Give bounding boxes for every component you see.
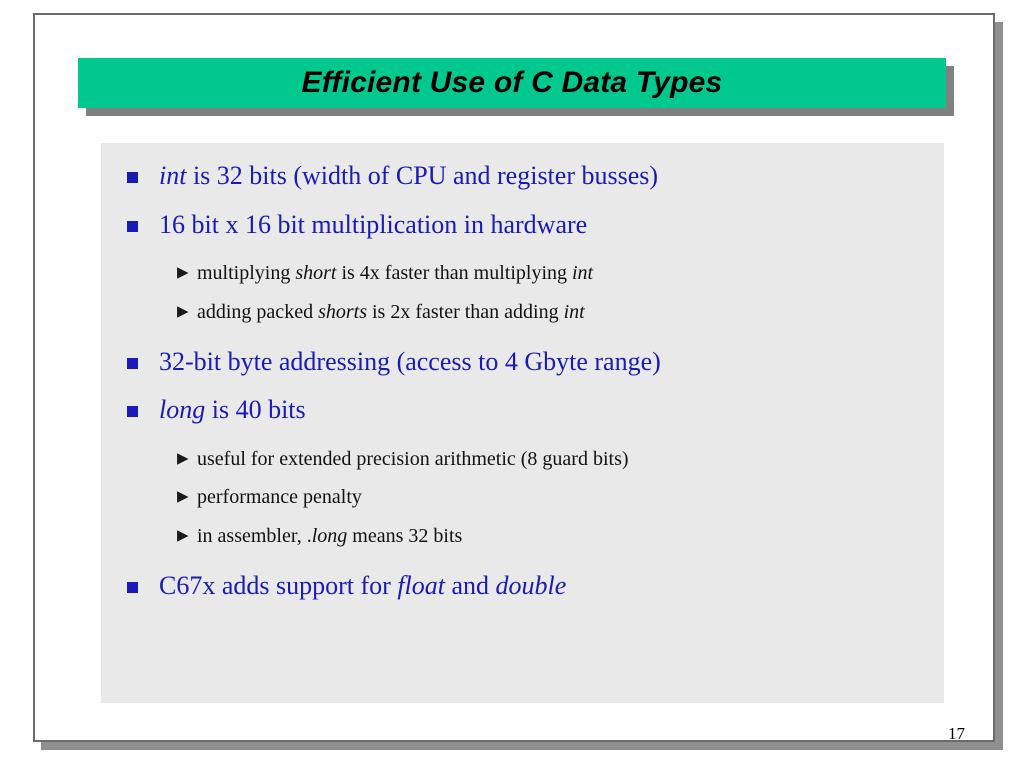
bullet-level2: useful for extended precision arithmetic… [111, 448, 934, 472]
page-number: 17 [948, 724, 965, 744]
bullet-level1: C67x adds support for float and double [111, 571, 934, 602]
bullet-text: performance penalty [197, 486, 362, 508]
bullet-text: adding packed [197, 301, 318, 323]
bullet-text: C67x adds support for [159, 571, 397, 600]
bullet-level1: long is 40 bits [111, 395, 934, 426]
emphasized-term: int [564, 301, 585, 323]
emphasized-term: shorts [318, 301, 367, 323]
bullet-text: is 32 bits (width of CPU and register bu… [186, 161, 658, 190]
bullet-text: is 40 bits [205, 395, 305, 424]
bullet-level1: 32-bit byte addressing (access to 4 Gbyt… [111, 347, 934, 378]
bullet-level2: multiplying short is 4x faster than mult… [111, 262, 934, 286]
emphasized-term: float [397, 571, 445, 600]
slide-canvas: Efficient Use of C Data Types int is 32 … [0, 0, 1024, 768]
emphasized-term: short [295, 262, 336, 284]
bullet-level1: int is 32 bits (width of CPU and registe… [111, 161, 934, 192]
bullet-text: 32-bit byte addressing (access to 4 Gbyt… [159, 347, 661, 376]
emphasized-term: int [159, 161, 186, 190]
bullet-level2: adding packed shorts is 2x faster than a… [111, 301, 934, 325]
bullet-text: is 4x faster than multiplying [336, 262, 572, 284]
title-banner: Efficient Use of C Data Types [78, 58, 946, 108]
bullet-level2: performance penalty [111, 486, 934, 510]
emphasized-term: long [159, 395, 205, 424]
content-panel: int is 32 bits (width of CPU and registe… [101, 143, 944, 703]
bullet-text: and [445, 571, 496, 600]
bullet-text: means 32 bits [347, 525, 462, 547]
slide-title: Efficient Use of C Data Types [302, 66, 723, 100]
bullet-text: useful for extended precision arithmetic… [197, 448, 629, 470]
emphasized-term: long [312, 525, 348, 547]
bullet-level1: 16 bit x 16 bit multiplication in hardwa… [111, 210, 934, 241]
bullet-level2: in assembler, .long means 32 bits [111, 525, 934, 549]
bullet-list: int is 32 bits (width of CPU and registe… [111, 161, 934, 601]
bullet-text: multiplying [197, 262, 295, 284]
emphasized-term: int [572, 262, 593, 284]
emphasized-term: double [496, 571, 567, 600]
bullet-text: is 2x faster than adding [367, 301, 564, 323]
bullet-text: in assembler, . [197, 525, 312, 547]
bullet-text: 16 bit x 16 bit multiplication in hardwa… [159, 210, 587, 239]
